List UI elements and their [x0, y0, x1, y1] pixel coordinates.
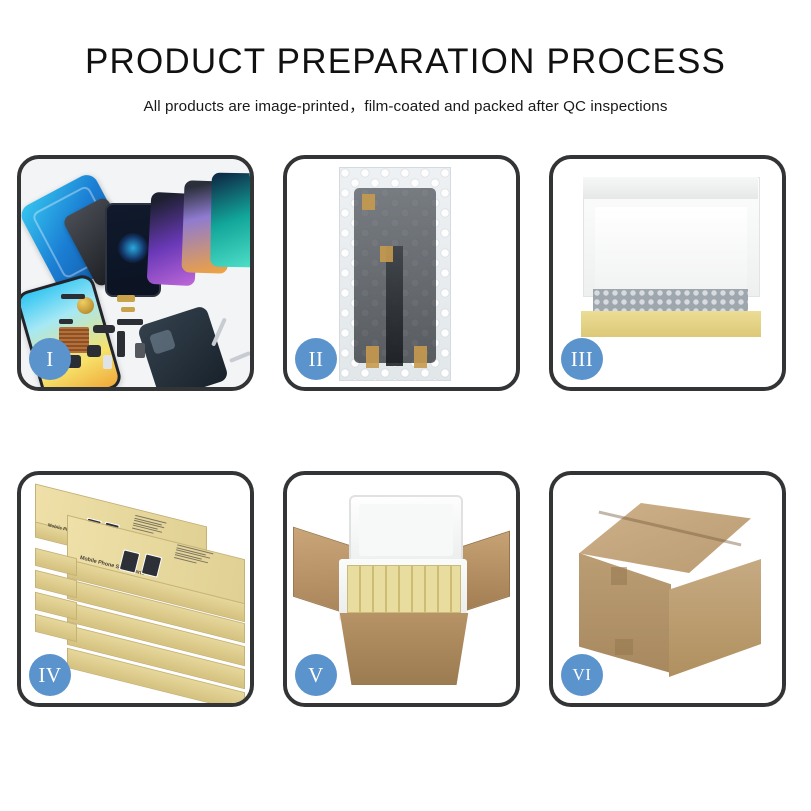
connector-part-3 [117, 319, 143, 325]
step-5-image: V [287, 475, 516, 703]
product-preparation-infographic: PRODUCT PREPARATION PROCESS All products… [0, 0, 811, 811]
wrapped-flex-cable [386, 246, 403, 366]
carton-tape-upper [611, 567, 627, 585]
process-step-2: II [283, 155, 520, 391]
step-1-image: I [21, 159, 250, 387]
step-badge-5: V [295, 654, 337, 696]
phone-back-housing [137, 305, 230, 387]
step-4-image: Mobile Phone Spare Parts Mobile Phone Sp… [21, 475, 250, 703]
screwdriver-tool [229, 351, 250, 363]
teal-phone-display [210, 173, 250, 268]
header: PRODUCT PREPARATION PROCESS All products… [0, 0, 811, 116]
gold-tab-right [414, 346, 427, 368]
process-step-grid: I II [17, 155, 794, 707]
foam-box-lid [349, 495, 463, 565]
connector-part-1 [59, 319, 73, 324]
carton-right-face [669, 559, 761, 677]
bubble-wrap-bag [339, 167, 451, 381]
process-step-1: I [17, 155, 254, 391]
gold-coin-part [77, 297, 94, 314]
battery-part [135, 343, 145, 358]
process-step-6: VI [549, 471, 786, 707]
carton-body [331, 613, 477, 685]
process-step-5: V [283, 471, 520, 707]
inner-box-front-panel [581, 311, 761, 337]
step-badge-3: III [561, 338, 603, 380]
chip-part-1 [61, 294, 85, 299]
connector-part-2 [93, 325, 115, 333]
process-step-4: Mobile Phone Spare Parts Mobile Phone Sp… [17, 471, 254, 707]
step-2-image: II [287, 159, 516, 387]
step-badge-1: I [29, 338, 71, 380]
step-6-image: VI [553, 475, 782, 703]
gold-tab-mid [380, 246, 393, 262]
step-badge-6: VI [561, 654, 603, 696]
flex-cable-2 [121, 307, 135, 312]
box-lid-edge [583, 177, 758, 199]
carton-tape-lower [615, 639, 633, 655]
step-badge-2: II [295, 338, 337, 380]
step-3-image: III [553, 159, 782, 387]
camera-module-part [87, 345, 101, 357]
process-step-3: III [549, 155, 786, 391]
flex-cable-1 [117, 295, 135, 302]
white-foam-sheet [595, 207, 747, 295]
gold-tab-top [362, 194, 375, 210]
small-screen-part [103, 355, 112, 369]
flex-ribbon-part [117, 331, 125, 357]
gold-tab-left [366, 346, 379, 368]
step-badge-4: IV [29, 654, 71, 696]
page-subtitle: All products are image-printed，film-coat… [0, 94, 811, 116]
page-title: PRODUCT PREPARATION PROCESS [0, 44, 811, 81]
bubble-wrapped-contents [593, 289, 748, 313]
yellow-boxes-inside [347, 565, 461, 613]
